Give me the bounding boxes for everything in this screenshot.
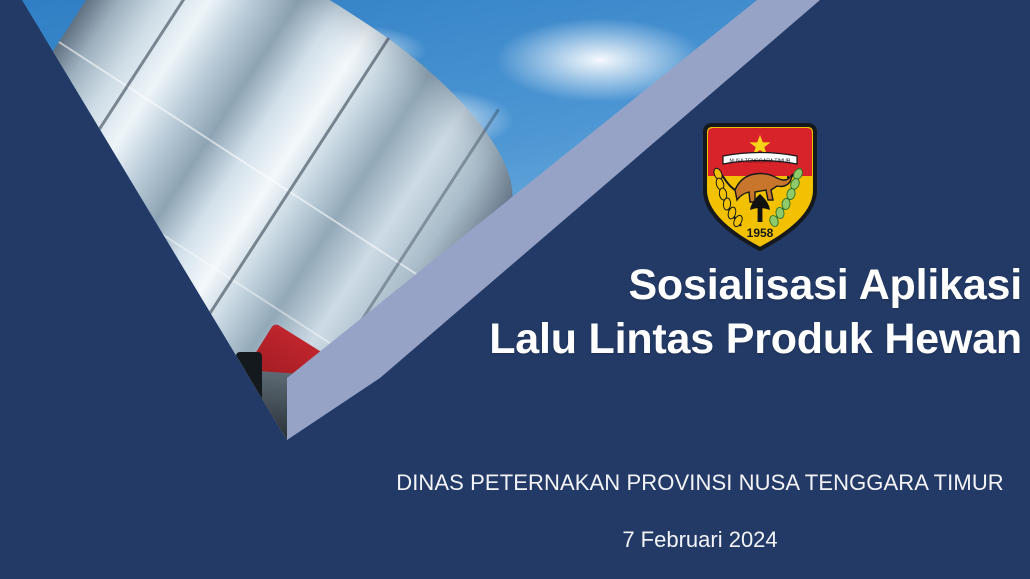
chassis-shadow <box>120 430 270 470</box>
title-line-2: Lalu Lintas Produk Hewan <box>300 312 1022 366</box>
organization-name: DINAS PETERNAKAN PROVINSI NUSA TENGGARA … <box>380 470 1020 496</box>
tank-part-b <box>196 398 238 450</box>
emblem-year: 1958 <box>747 226 774 240</box>
engine-shadow <box>236 352 262 438</box>
title-line-1: Sosialisasi Aplikasi <box>300 258 1022 312</box>
presentation-date: 7 Februari 2024 <box>380 527 1020 553</box>
ntt-provincial-emblem: NUSA TENGGARA TIMUR <box>697 116 823 258</box>
page-title: Sosialisasi Aplikasi Lalu Lintas Produk … <box>300 258 1022 366</box>
truck-undercarriage <box>116 362 424 503</box>
hero-photo <box>0 0 790 470</box>
emblem-ribbon-text: NUSA TENGGARA TIMUR <box>730 158 791 164</box>
title-slide: NUSA TENGGARA TIMUR <box>0 0 1030 579</box>
tank-part-a <box>148 392 196 450</box>
